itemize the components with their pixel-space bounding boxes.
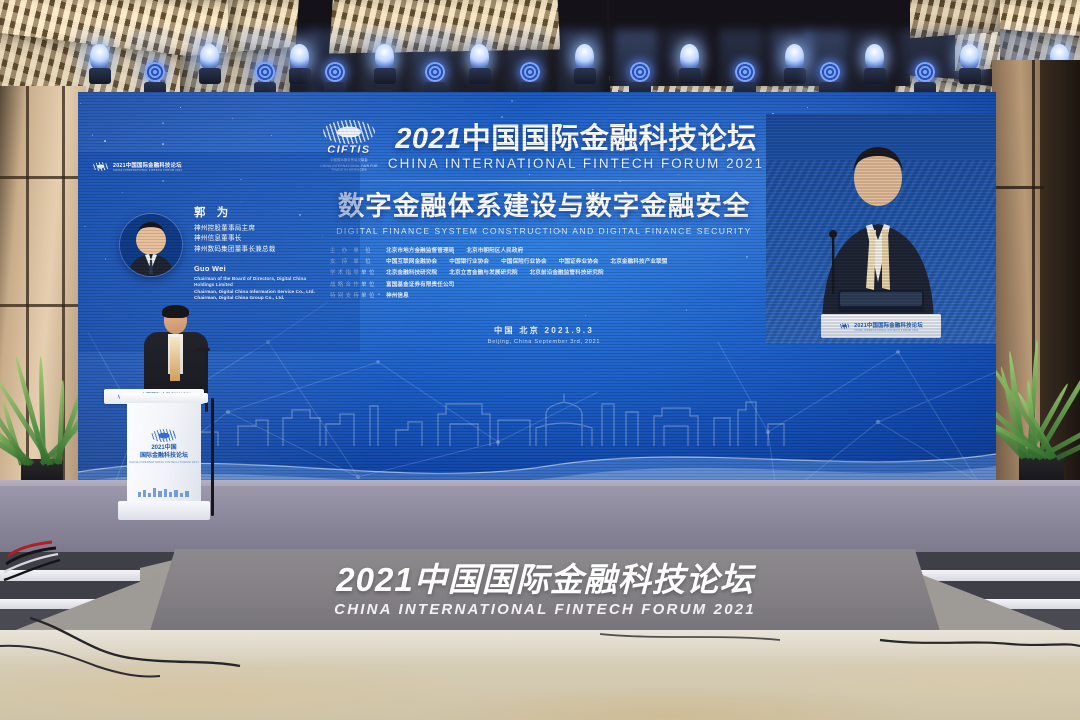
podium: 2021中国 国际金融科技论坛 CHINA INTERNATIONAL FINT… — [118, 393, 210, 520]
moving-head-light — [785, 44, 804, 70]
credit-values: 北京市地方金融监督管理局北京市朝阳区人民政府 — [386, 247, 523, 257]
credit-values: 神州信息 — [386, 292, 409, 302]
event-datetime-cn: 中国 北京 2021.9.3 — [324, 324, 764, 336]
light-fixture-body — [959, 68, 981, 84]
forum-theme: 数字金融体系建设与数字金融安全 DIGITAL FINANCE SYSTEM C… — [324, 184, 764, 236]
credit-values: 中国互联网金融协会中国银行业协会中国保险行业协会中国证券业协会北京金融科技产业联… — [386, 258, 667, 268]
screen-particle — [501, 116, 503, 118]
speaker-details: 郭 为 神州控股董事局主席神州信息董事长神州数码集团董事长兼总裁 Guo Wei… — [194, 204, 350, 301]
light-fixture-body — [784, 68, 806, 84]
speaker-hair — [162, 305, 189, 318]
speaker-name-cn: 郭 为 — [194, 204, 350, 220]
event-datetime-en: Beijing, China September 3rd, 2021 — [324, 339, 764, 345]
credit-org: 富国基金证券有限责任公司 — [386, 281, 454, 291]
moving-head-light — [960, 44, 979, 70]
credit-values: 北京金融科技研究院北京立言金融与发展研究院北京前沿金融监管科技研究院 — [386, 269, 604, 279]
credit-org: 北京金融科技研究院 — [386, 269, 437, 279]
forum-title-year: 2021 — [395, 123, 462, 155]
theme-cn: 数字金融体系建设与数字金融安全 — [324, 184, 764, 223]
screen-particle — [807, 107, 809, 109]
organizer-credits: 主 办 单 位北京市地方金融监督管理局北京市朝阳区人民政府支 持 单 位中国互联… — [330, 247, 760, 303]
card-logo: 2021中国国际金融科技论坛 CHINA INTERNATIONAL FINTE… — [92, 161, 182, 172]
moving-head-light — [290, 44, 309, 70]
wall-seam — [0, 176, 86, 179]
live-podium-sign: 2021中国国际金融科技论坛 CHINA INTERNATIONAL FINTE… — [821, 314, 941, 338]
portrait-illustration — [120, 214, 182, 276]
screen-particle — [271, 135, 272, 136]
forum-title-cn: 2021中国国际金融科技论坛 — [388, 123, 764, 155]
cable-bundle — [0, 518, 120, 608]
card-header-cn: 2021中国国际金融科技论坛 — [113, 161, 182, 169]
speaker-roles-en: Chairman of the Board of Directors, Digi… — [194, 276, 350, 302]
card-header-en: CHINA INTERNATIONAL FINTECH FORUM 2021 — [113, 169, 182, 172]
par-light — [255, 62, 275, 82]
moving-head-light — [90, 44, 109, 70]
par-light — [145, 62, 165, 82]
moving-head-light — [680, 44, 699, 70]
potted-plant — [1006, 330, 1080, 490]
credit-row: 特别支持单位神州信息 — [330, 292, 760, 302]
podium-body: 2021中国 国际金融科技论坛 CHINA INTERNATIONAL FINT… — [127, 403, 201, 501]
credit-org: 中国银行业协会 — [449, 258, 489, 268]
forum-title-cn-rest: 中国国际金融科技论坛 — [462, 123, 757, 155]
par-light — [735, 62, 755, 82]
forum-header: CIFTIS 中国国际服务贸易交易会 CHINA INTERNATIONAL F… — [326, 120, 756, 181]
par-light — [630, 62, 650, 82]
screen-particle — [511, 100, 513, 102]
speaker-roles-cn: 神州控股董事局主席神州信息董事长神州数码集团董事长兼总裁 — [194, 224, 350, 255]
event-datetime: 中国 北京 2021.9.3 Beijing, China September … — [324, 324, 764, 345]
light-fixture-body — [289, 68, 311, 84]
floor-cables — [0, 600, 1080, 720]
stage-banner-title-cn: 2021中国国际金融科技论坛 — [336, 562, 753, 598]
credit-org: 北京金融科技产业联盟 — [611, 258, 668, 268]
par-light — [520, 62, 540, 82]
podium-line1-cn: 2021中国 — [127, 444, 201, 452]
theme-en: DIGITAL FINANCE SYSTEM CONSTRUCTION AND … — [324, 226, 764, 236]
screen-particle — [162, 122, 164, 124]
live-podium-sign-en: CHINA INTERNATIONAL FINTECH FORUM 2021 — [854, 329, 923, 332]
credit-row: 战略合作单位富国基金证券有限责任公司 — [330, 281, 760, 291]
credit-row: 支 持 单 位中国互联网金融协会中国银行业协会中国保险行业协会中国证券业协会北京… — [330, 258, 760, 268]
speaker-sash — [170, 337, 180, 381]
screen-particle — [180, 107, 181, 108]
globe-swoosh-icon — [323, 120, 375, 144]
wall-seam — [0, 304, 86, 307]
credit-org: 北京市朝阳区人民政府 — [466, 247, 523, 257]
credit-org: 中国互联网金融协会 — [386, 258, 437, 268]
screen-particle — [232, 118, 233, 119]
screen-particle — [104, 140, 105, 141]
forum-title-en: CHINA INTERNATIONAL FINTECH FORUM 2021 — [388, 156, 764, 171]
podium-top — [120, 393, 208, 403]
credit-org: 中国保险行业协会 — [501, 258, 547, 268]
podium-base — [118, 501, 210, 520]
par-light — [325, 62, 345, 82]
mic-pole — [211, 398, 214, 516]
light-fixture-body — [199, 68, 221, 84]
podium-skyline-graphic — [136, 486, 192, 497]
credit-org: 中国证券业协会 — [559, 258, 599, 268]
screen-particle — [80, 103, 81, 104]
speaker-role-line: 神州信息董事长 — [194, 234, 350, 244]
credit-org: 神州信息 — [386, 292, 409, 302]
screen-particle — [162, 143, 164, 145]
screen-particle — [619, 181, 620, 182]
podium-line-en: CHINA INTERNATIONAL FINTECH FORUM 2021 — [127, 460, 201, 464]
microphone-boom — [196, 348, 210, 351]
speaker-role-line: 神州控股董事局主席 — [194, 224, 350, 234]
speaker-name-en: Guo Wei — [194, 264, 350, 273]
main-led-screen: CIFTIS 中国国际服务贸易交易会 CHINA INTERNATIONAL F… — [78, 92, 996, 492]
light-fixture-body — [864, 68, 886, 84]
light-fixture-body — [374, 68, 396, 84]
globe-swoosh-icon — [839, 323, 850, 329]
moving-head-light — [375, 44, 394, 70]
light-fixture-body — [679, 68, 701, 84]
speaker-role-line: 神州数码集团董事长兼总裁 — [194, 245, 350, 255]
par-light — [915, 62, 935, 82]
divider — [332, 180, 750, 181]
par-light — [425, 62, 445, 82]
light-fixture-body — [574, 68, 596, 84]
potted-plant — [8, 360, 78, 490]
credit-org: 北京立言金融与发展研究院 — [449, 269, 517, 279]
podium-line2-cn: 国际金融科技论坛 — [127, 452, 201, 460]
live-podium-sign-cn: 2021中国国际金融科技论坛 — [854, 321, 923, 329]
credit-row: 主 办 单 位北京市地方金融监督管理局北京市朝阳区人民政府 — [330, 247, 760, 257]
live-background — [766, 114, 996, 344]
light-fixture-body — [469, 68, 491, 84]
globe-swoosh-icon — [151, 429, 177, 442]
light-fixture-body — [89, 68, 111, 84]
wall-seam — [992, 186, 1044, 189]
live-background-texture — [766, 160, 996, 344]
credit-org: 北京市地方金融监督管理局 — [386, 247, 454, 257]
speaker-role-line-en: Chairman, Digital China Group Co., Ltd. — [194, 295, 350, 301]
screen-particle — [92, 134, 94, 136]
globe-swoosh-icon — [92, 162, 109, 171]
conference-stage-photo: CIFTIS 中国国际服务贸易交易会 CHINA INTERNATIONAL F… — [0, 0, 1080, 720]
par-light — [820, 62, 840, 82]
credit-row: 学术指导单位北京金融科技研究院北京立言金融与发展研究院北京前沿金融监管科技研究院 — [330, 269, 760, 279]
moving-head-light — [575, 44, 594, 70]
moving-head-light — [865, 44, 884, 70]
moving-head-light — [470, 44, 489, 70]
speaker-info-card: 2021中国国际金融科技论坛 CHINA INTERNATIONAL FINTE… — [78, 152, 360, 352]
live-video-panel: 2021中国国际金融科技论坛 CHINA INTERNATIONAL FINTE… — [766, 114, 996, 344]
credit-values: 富国基金证券有限责任公司 — [386, 281, 454, 291]
moving-head-light — [200, 44, 219, 70]
live-speaker-figure — [766, 114, 996, 344]
credit-org: 北京前沿金融监管科技研究院 — [530, 269, 604, 279]
speaker-portrait — [120, 214, 182, 276]
speaker-on-stage — [140, 307, 212, 399]
